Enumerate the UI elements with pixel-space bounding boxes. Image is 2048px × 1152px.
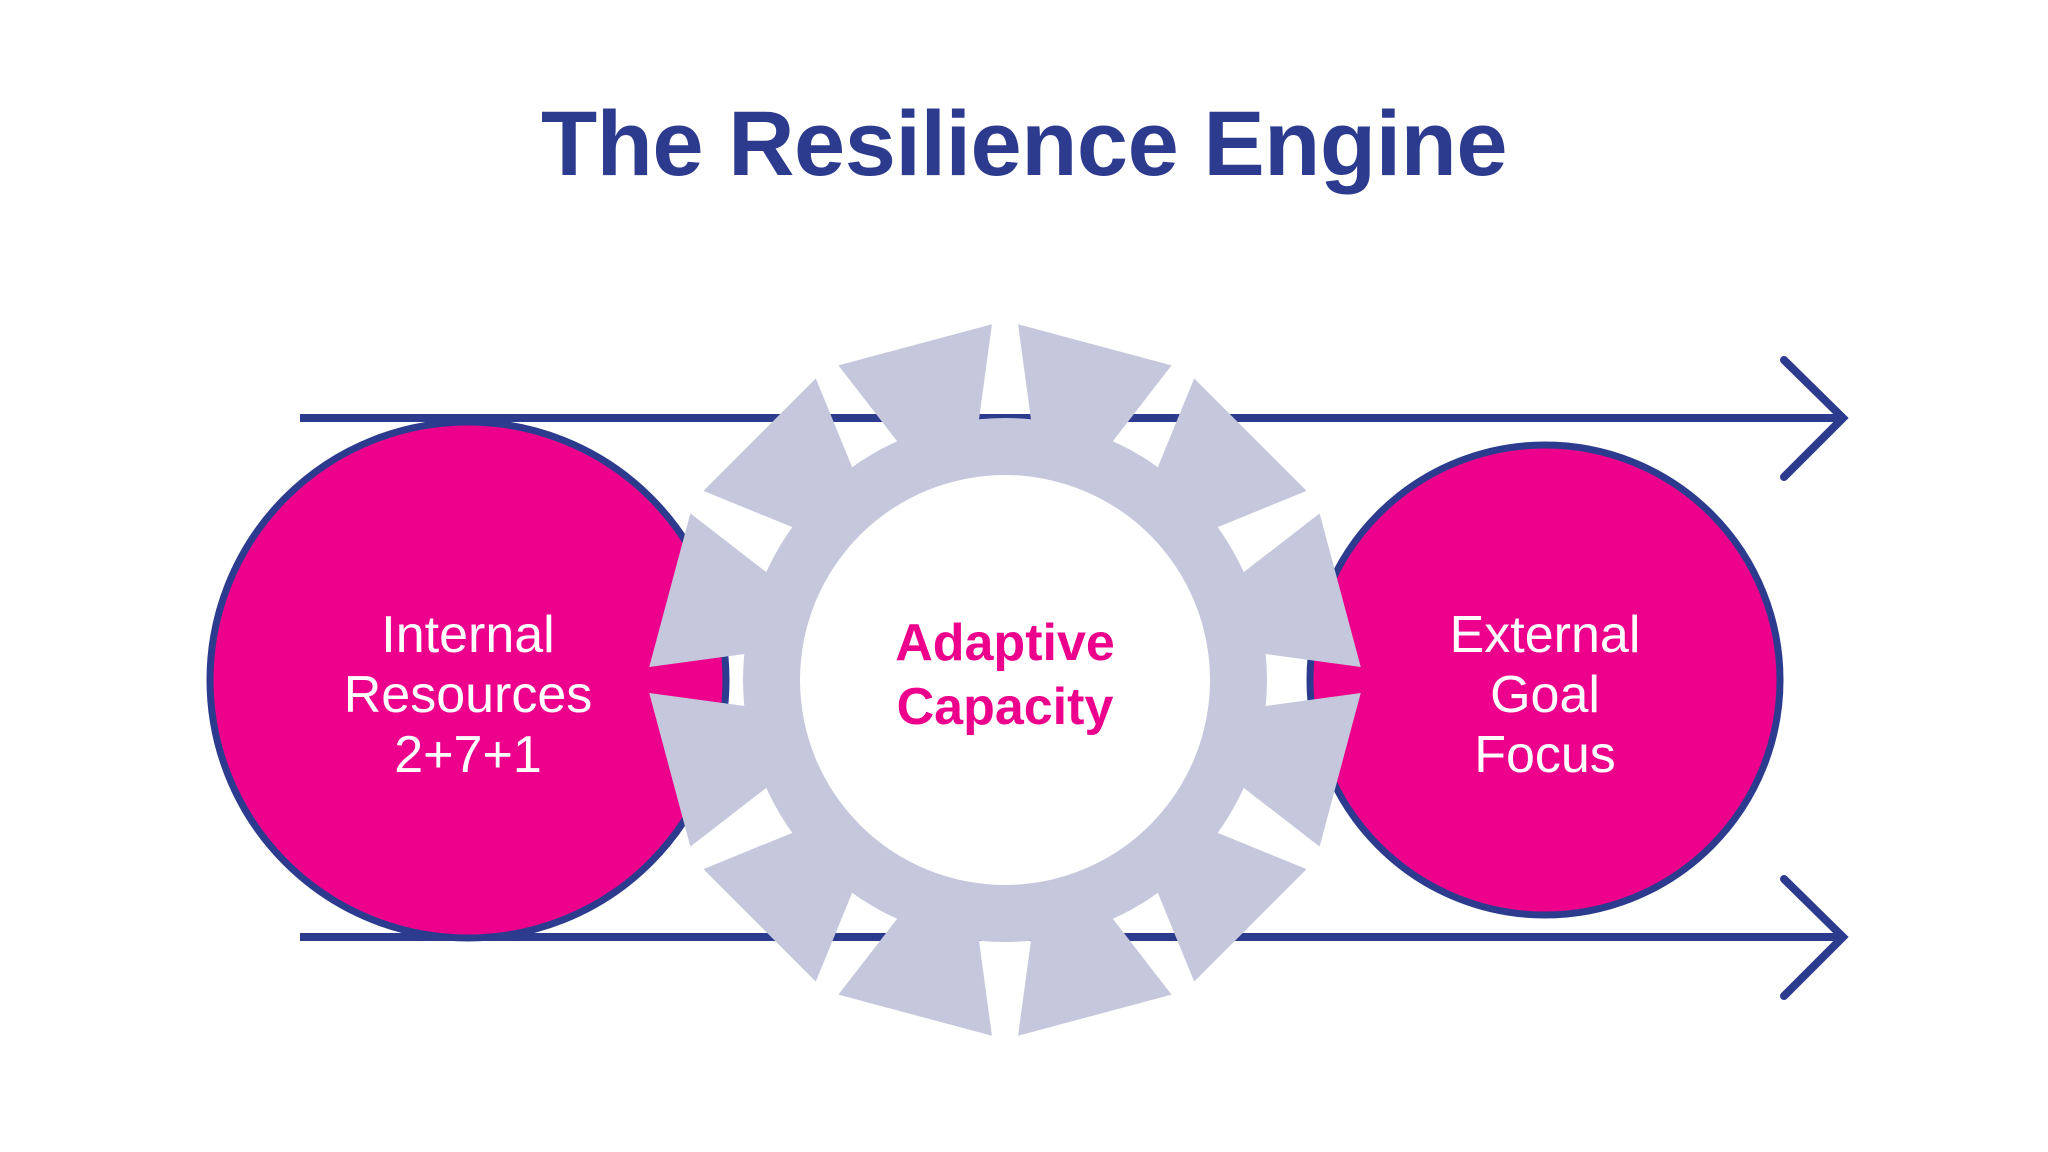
adaptive-capacity-node[interactable]: Adaptive Capacity (649, 324, 1361, 1036)
resilience-engine-diagram: Internal Resources 2+7+1 External Goal F… (0, 0, 2048, 1152)
internal-resources-line-1: Internal (381, 606, 554, 664)
external-goal-focus-line-1: External (1450, 606, 1641, 664)
slide-canvas: The Resilience Engine Internal Resources… (0, 0, 2048, 1152)
external-goal-focus-node[interactable]: External Goal Focus (1310, 445, 1780, 915)
internal-resources-line-2: Resources (344, 666, 593, 724)
adaptive-capacity-line-1: Adaptive (895, 614, 1115, 672)
external-goal-focus-line-2: Goal (1490, 666, 1600, 724)
internal-resources-node[interactable]: Internal Resources 2+7+1 (210, 422, 726, 938)
internal-resources-line-3: 2+7+1 (394, 726, 542, 784)
external-goal-focus-line-3: Focus (1474, 726, 1616, 784)
adaptive-capacity-line-2: Capacity (897, 678, 1114, 736)
